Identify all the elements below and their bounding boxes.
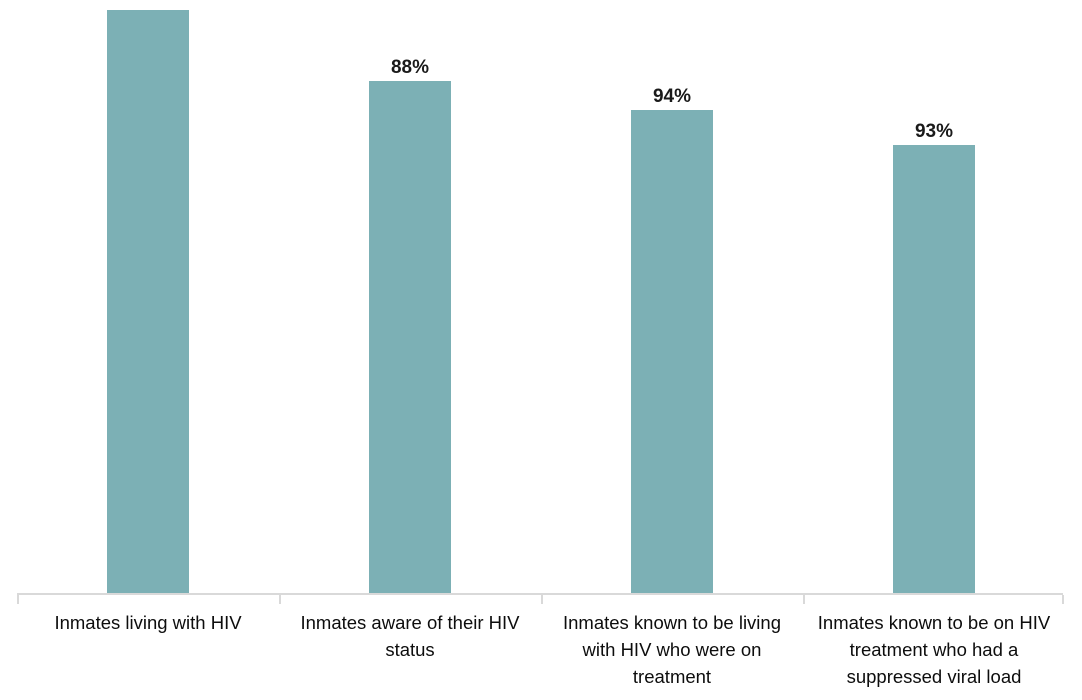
x-axis-label-line: Inmates aware of their HIV bbox=[283, 609, 537, 636]
bar-inmates-living-with-hiv[interactable] bbox=[107, 10, 189, 594]
bar-value-label-2: 88% bbox=[391, 57, 429, 79]
bar-chart: 88% 94% 93% Inmates living with HIV Inma… bbox=[0, 0, 1082, 700]
plot-area: 88% 94% 93% bbox=[0, 0, 1082, 594]
x-axis-line bbox=[17, 593, 1063, 595]
bar-group-3: 94% bbox=[541, 0, 803, 594]
x-axis-label-inmates-aware-of-status: Inmates aware of their HIV status bbox=[279, 601, 541, 663]
x-axis-label-line: with HIV who were on bbox=[545, 636, 799, 663]
x-axis-label-line: treatment who had a bbox=[807, 636, 1061, 663]
x-axis-label-line: Inmates known to be living bbox=[545, 609, 799, 636]
bar-group-2: 88% bbox=[279, 0, 541, 594]
x-axis-label-inmates-on-treatment: Inmates known to be living with HIV who … bbox=[541, 601, 803, 690]
x-axis-label-inmates-living-with-hiv: Inmates living with HIV bbox=[17, 601, 279, 636]
bar-inmates-on-treatment[interactable] bbox=[631, 110, 713, 594]
x-axis-category-labels: Inmates living with HIV Inmates aware of… bbox=[0, 601, 1082, 700]
x-axis-label-line: Inmates living with HIV bbox=[21, 609, 275, 636]
x-axis-label-line: treatment bbox=[545, 663, 799, 690]
x-axis-label-line: Inmates known to be on HIV bbox=[807, 609, 1061, 636]
bar-inmates-aware-of-status[interactable] bbox=[369, 81, 451, 594]
x-axis-label-inmates-suppressed-viral-load: Inmates known to be on HIV treatment who… bbox=[803, 601, 1065, 690]
bar-value-label-4: 93% bbox=[915, 121, 953, 143]
bar-group-1 bbox=[17, 0, 279, 594]
bar-group-4: 93% bbox=[803, 0, 1065, 594]
x-axis-label-line: suppressed viral load bbox=[807, 663, 1061, 690]
bar-value-label-3: 94% bbox=[653, 86, 691, 108]
x-axis-label-line: status bbox=[283, 636, 537, 663]
bar-inmates-suppressed-viral-load[interactable] bbox=[893, 145, 975, 594]
